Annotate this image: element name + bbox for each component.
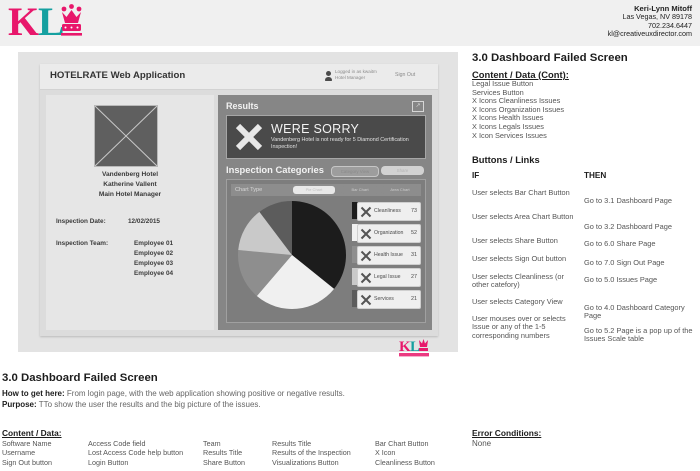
inspection-categories-title: Inspection Categories — [226, 164, 324, 175]
manager-title: Main Hotel Manager — [46, 191, 214, 198]
category-name: Cleanliness — [374, 208, 401, 214]
how-to-get-here: How to get here: From login page, with t… — [2, 389, 345, 398]
category-value: 73 — [411, 208, 417, 214]
then-column-header: THEN — [584, 172, 694, 180]
content-item: Software Name — [2, 439, 52, 448]
category-value: 31 — [411, 252, 417, 258]
kl-logo: K L — [8, 3, 128, 43]
content-item: Lost Access Code help button — [88, 448, 183, 457]
content-item: Login Button — [88, 458, 183, 467]
manager-name: Katherine Vallent — [46, 181, 214, 188]
category-value: 52 — [411, 230, 417, 236]
inspection-date-value: 12/02/2015 — [128, 218, 160, 225]
content-column: Results Title Results of the Inspection … — [272, 439, 351, 467]
rule-if: User selects Bar Chart Button — [472, 189, 580, 197]
page-header: K L Keri-Lynn Mitoff Las Vegas, NV 89178… — [0, 0, 700, 46]
rule-then: Go to 3.2 Dashboard Page — [584, 223, 694, 231]
content-item: Team — [203, 439, 245, 448]
content-item: Access Code field — [88, 439, 183, 448]
category-name: Organization — [374, 230, 403, 236]
pie-chart-button[interactable]: Pie Chart — [293, 186, 335, 194]
hotel-info-panel: Vandenberg Hotel Katherine Vallent Main … — [46, 95, 214, 330]
how-value: From login page, with the web applicatio… — [65, 389, 345, 398]
x-icon — [360, 271, 372, 283]
content-column: Team Results Title Share Button — [203, 439, 245, 467]
if-column-header: IF — [472, 172, 580, 180]
content-column: Bar Chart Button X Icon Cleanliness Butt… — [375, 439, 435, 467]
logged-in-user: Logged in as kwaitm Hotel Manager — [325, 69, 387, 85]
x-icon — [360, 227, 372, 239]
category-view-button[interactable]: Category View — [331, 166, 379, 177]
spec-title: 3.0 Dashboard Failed Screen — [472, 52, 694, 64]
category-name: Legal Issue — [374, 274, 401, 280]
x-icon — [360, 249, 372, 261]
team-member: Employee 02 — [134, 250, 173, 257]
rule-then: Go to 6.0 Share Page — [584, 240, 694, 248]
share-button[interactable]: Share — [381, 166, 424, 175]
svg-text:K: K — [8, 3, 39, 43]
kl-logo-watermark: K L — [398, 336, 440, 358]
contact-block: Keri-Lynn Mitoff Las Vegas, NV 89178 702… — [608, 5, 692, 39]
sign-out-button[interactable]: Sign Out — [395, 72, 415, 78]
results-panel: Results ↗ WERE SORRY Vandenberg Hotel is… — [218, 95, 432, 330]
user-status-text: Logged in as kwaitm Hotel Manager — [335, 69, 387, 80]
content-item: Results Title — [203, 448, 245, 457]
buttons-links-heading: Buttons / Links — [472, 154, 694, 165]
rule-if: User mouses over or selects Issue or any… — [472, 315, 580, 340]
content-item: Cleanliness Button — [375, 458, 435, 467]
rule-then: Go to 3.1 Dashboard Page — [584, 197, 694, 205]
content-item: Sign Out button — [2, 458, 52, 467]
app-window: HOTELRATE Web Application Logged in as k… — [40, 64, 438, 336]
content-item: Share Button — [203, 458, 245, 467]
chart-type-toolbar: Chart Type Pie Chart Bar Chart Area Char… — [231, 184, 421, 196]
rule-if: User selects Cleanliness (or other catef… — [472, 273, 580, 290]
rule-then: Go to 5.2 Page is a pop up of the Issues… — [584, 327, 694, 344]
error-conditions-value: None — [472, 439, 491, 448]
team-member: Employee 01 — [134, 240, 173, 247]
chart-type-label: Chart Type — [235, 187, 262, 193]
user-icon — [325, 71, 332, 81]
how-label: How to get here: — [2, 389, 65, 398]
rule-if: User selects Sign Out button — [472, 255, 580, 263]
category-row-legal-issue[interactable]: Legal Issue 27 — [357, 268, 421, 287]
purpose-label: Purpose: — [2, 400, 37, 409]
content-item: Results of the Inspection — [272, 448, 351, 457]
chart-panel: Chart Type Pie Chart Bar Chart Area Char… — [226, 179, 426, 323]
hotel-name: Vandenberg Hotel — [46, 171, 214, 178]
category-row-health-issue[interactable]: Health Issue 31 — [357, 246, 421, 265]
bottom-title: 3.0 Dashboard Failed Screen — [2, 372, 158, 384]
inspection-team-label: Inspection Team: — [56, 240, 108, 247]
content-item: Results Title — [272, 439, 351, 448]
purpose: Purpose: TTo show the user the results a… — [2, 400, 261, 409]
category-row-services[interactable]: Services 21 — [357, 290, 421, 309]
content-item: Visualizations Button — [272, 458, 351, 467]
rule-then: Go to 7.0 Sign Out Page — [584, 259, 694, 267]
content-item: X Icon — [375, 448, 435, 457]
rule-if: User selects Share Button — [472, 237, 580, 245]
error-conditions-heading: Error Conditions: — [472, 428, 541, 438]
hotel-image-placeholder — [94, 105, 158, 167]
share-icon[interactable]: ↗ — [412, 101, 424, 112]
content-item: Username — [2, 448, 52, 457]
category-row-cleanliness[interactable]: Cleanliness 73 — [357, 202, 421, 221]
category-row-organization[interactable]: Organization 52 — [357, 224, 421, 243]
category-value: 21 — [411, 296, 417, 302]
failed-result-banner: WERE SORRY Vandenberg Hotel is not ready… — [226, 115, 426, 159]
content-column: Software Name Username Sign Out button — [2, 439, 52, 467]
category-name: Services — [374, 296, 394, 302]
svg-text:L: L — [38, 3, 65, 43]
rule-if: User selects Area Chart Button — [472, 213, 580, 221]
x-icon — [360, 205, 372, 217]
area-chart-button[interactable]: Area Chart — [381, 186, 419, 194]
inspection-date-label: Inspection Date: — [56, 218, 106, 225]
wireframe-mockup: HOTELRATE Web Application Logged in as k… — [18, 52, 458, 352]
content-item: X Icon Services Issues — [472, 132, 694, 141]
rule-then: Go to 5.0 Issues Page — [584, 276, 694, 284]
purpose-value: TTo show the user the results and the bi… — [37, 400, 261, 409]
team-member: Employee 04 — [134, 270, 173, 277]
crown-icon — [61, 4, 82, 35]
results-title: Results — [226, 101, 259, 111]
app-name: HOTELRATE Web Application — [50, 70, 185, 81]
content-column: Access Code field Lost Access Code help … — [88, 439, 183, 467]
x-icon — [235, 123, 263, 151]
category-value: 27 — [411, 274, 417, 280]
content-data-heading: Content / Data: — [2, 428, 62, 438]
bar-chart-button[interactable]: Bar Chart — [341, 186, 379, 194]
contact-email: kl@creativeuxdirector.com — [608, 30, 692, 38]
content-item: Bar Chart Button — [375, 439, 435, 448]
pie-chart[interactable] — [233, 200, 351, 312]
svg-text:L: L — [410, 339, 420, 355]
x-icon — [360, 293, 372, 305]
app-top-bar: HOTELRATE Web Application Logged in as k… — [40, 64, 438, 90]
failed-heading: WERE SORRY — [271, 122, 359, 136]
spec-column: 3.0 Dashboard Failed Screen Content / Da… — [472, 52, 694, 172]
rule-if: User selects Category View — [472, 298, 580, 306]
rule-then: Go to 4.0 Dashboard Category Page — [584, 304, 694, 321]
category-name: Health Issue — [374, 252, 403, 258]
failed-subtext: Vandenberg Hotel is not ready for 5 Diam… — [271, 137, 421, 150]
content-data-cont-block: Content / Data (Cont): Legal Issue Butto… — [472, 69, 694, 140]
team-member: Employee 03 — [134, 260, 173, 267]
